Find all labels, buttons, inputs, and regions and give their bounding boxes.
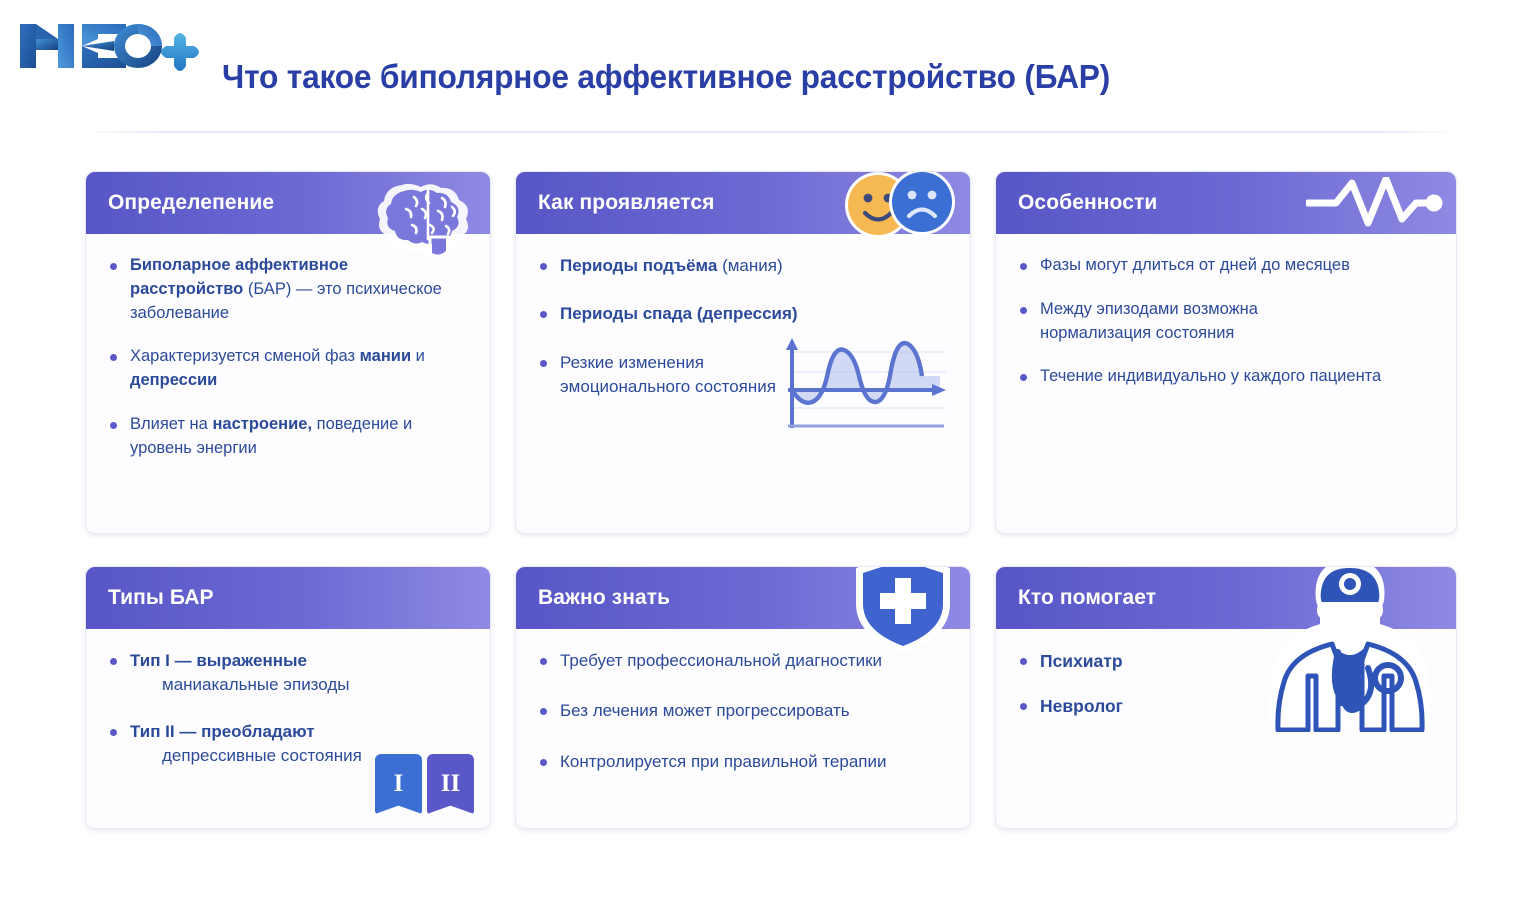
card-manifestation: Как проявляется Период	[515, 171, 971, 534]
list-item: Характеризуется сменой фаз мании и депре…	[108, 345, 463, 393]
type-badges-icon: I II	[375, 754, 474, 814]
bullet-regular-text: Контролируется при правильной терапии	[560, 752, 887, 771]
bullet-regular-text: Влияет на	[130, 415, 212, 433]
bullet-regular-text: (мания)	[717, 256, 782, 275]
card-body-definition: Биполарное аффективное расстройство (БАР…	[86, 234, 490, 533]
page-title: Что такое биполярное аффективное расстро…	[222, 58, 1110, 96]
card-body-who-helps: Психиатр Невролог	[996, 629, 1456, 828]
card-title-definition: Определепение	[108, 191, 274, 215]
card-definition: Определепение	[85, 171, 491, 534]
page-header: Что такое биполярное аффективное расстро…	[0, 0, 1536, 142]
list-item: Биполарное аффективное расстройство (БАР…	[108, 254, 463, 325]
neo-plus-logo	[14, 16, 204, 76]
list-item: Течение индивидуально у каждого пациента	[1018, 365, 1434, 389]
card-title-important: Важно знать	[538, 586, 670, 610]
card-types: Типы БАР Тип I — выраженные маниакальные…	[85, 566, 491, 829]
card-body-features: Фазы могут длиться от дней до месяцев Ме…	[996, 234, 1456, 533]
card-header-important: Важно знать	[516, 567, 970, 629]
card-grid: Определепение	[85, 171, 1457, 829]
card-who-helps: Кто помогает	[995, 566, 1457, 829]
header-divider	[84, 131, 1456, 133]
bullet-bold-text: Психиатр	[1040, 651, 1123, 671]
card-header-who-helps: Кто помогает	[996, 567, 1456, 629]
card-body-manifestation: Периоды подъёма (мания) Периоды спада (д…	[516, 234, 970, 533]
list-item: Без лечения может прогрессировать	[538, 699, 948, 723]
bullet-sub-text: маниакальные эпизоды	[162, 673, 468, 697]
bullet-regular-text: Течение индивидуально у каждого пациента	[1040, 367, 1381, 385]
bullet-regular-text: Резкие изменения эмоционального состояни…	[560, 353, 776, 396]
list-item: Влияет на настроение, поведение и уровен…	[108, 413, 463, 461]
card-title-manifestation: Как проявляется	[538, 191, 714, 215]
card-body-important: Требует профессиональной диагностики Без…	[516, 629, 970, 828]
type-badge-two: II	[427, 754, 474, 814]
list-item: Между эпизодами возможна нормализация со…	[1018, 298, 1318, 346]
bullet-list-types: Тип I — выраженные маниакальные эпизоды …	[108, 649, 468, 769]
card-features: Особенности Фазы могут длиться от дней д…	[995, 171, 1457, 534]
bullet-list-definition: Биполарное аффективное расстройство (БАР…	[108, 254, 468, 460]
list-item: Контролируется при правильной терапии	[538, 750, 948, 774]
pulse-line-icon	[1306, 177, 1446, 240]
bullet-regular-text-2: и	[411, 347, 425, 365]
card-header-manifestation: Как проявляется	[516, 172, 970, 234]
card-title-who-helps: Кто помогает	[1018, 586, 1156, 610]
list-item: Психиатр	[1018, 649, 1434, 674]
card-header-definition: Определепение	[86, 172, 490, 234]
list-item: Невролог	[1018, 694, 1434, 719]
bullet-bold-text: Тип I — выраженные	[130, 651, 307, 670]
bullet-bold-text: настроение,	[212, 415, 312, 433]
bullet-bold-text: Периоды подъёма	[560, 256, 717, 275]
list-item: Периоды подъёма (мания)	[538, 254, 948, 278]
card-title-features: Особенности	[1018, 191, 1157, 215]
bullet-regular-text: Требует профессиональной диагностики	[560, 651, 882, 670]
list-item: Требует профессиональной диагностики	[538, 649, 948, 673]
bullet-list-who-helps: Психиатр Невролог	[1018, 649, 1434, 719]
card-body-types: Тип I — выраженные маниакальные эпизоды …	[86, 629, 490, 828]
card-header-types: Типы БАР	[86, 567, 490, 629]
mood-wave-chart	[766, 336, 952, 445]
bullet-bold-text: Периоды спада (депрессия)	[560, 304, 798, 323]
list-item: Резкие изменения эмоционального состояни…	[538, 351, 788, 400]
bullet-list-important: Требует профессиональной диагностики Без…	[538, 649, 948, 774]
card-title-types: Типы БАР	[108, 586, 214, 610]
bullet-list-features: Фазы могут длиться от дней до месяцев Ме…	[1018, 254, 1434, 389]
list-item: Периоды спада (депрессия)	[538, 302, 948, 326]
type-badge-one: I	[375, 754, 422, 814]
bullet-bold-text: Невролог	[1040, 696, 1123, 716]
bullet-bold-text: мании	[360, 347, 411, 365]
bullet-bold-text: Тип II — преобладают	[130, 722, 315, 741]
list-item: Фазы могут длиться от дней до месяцев	[1018, 254, 1434, 278]
card-header-features: Особенности	[996, 172, 1456, 234]
bullet-regular-text: Фазы могут длиться от дней до месяцев	[1040, 256, 1350, 274]
bullet-regular-text: Характеризуется сменой фаз	[130, 347, 360, 365]
list-item: Тип I — выраженные маниакальные эпизоды	[108, 649, 468, 698]
bullet-regular-text: Без лечения может прогрессировать	[560, 701, 850, 720]
bullet-regular-text: Между эпизодами возможна нормализация со…	[1040, 300, 1258, 342]
bullet-bold-text-2: депрессии	[130, 371, 217, 389]
card-important: Важно знать Требует профессиональной диа…	[515, 566, 971, 829]
